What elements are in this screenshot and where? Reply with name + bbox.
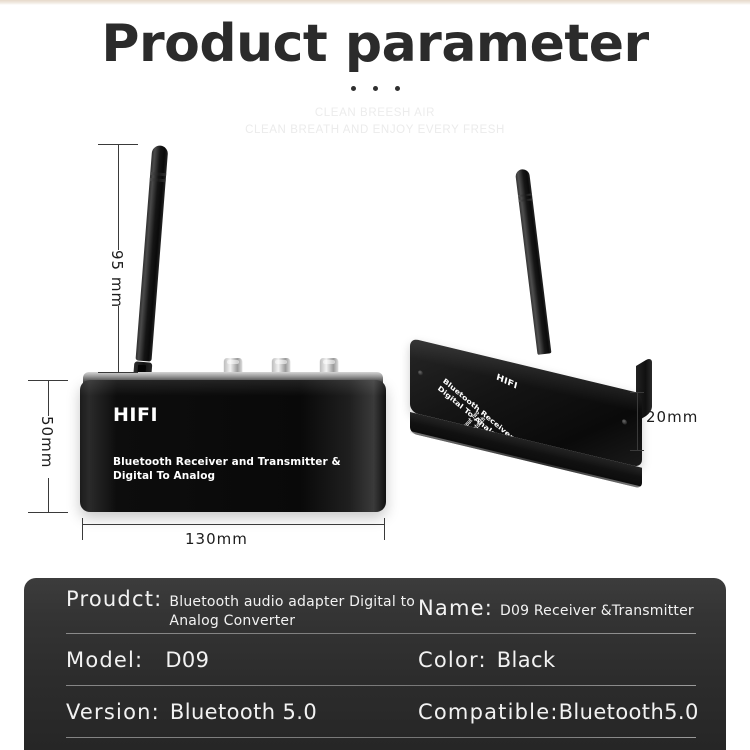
spec-cell-model: Model: D09 <box>66 648 418 672</box>
dimension-tick-right <box>384 518 385 540</box>
spec-cell-product: Proudct: Bluetooth audio adapter Digital… <box>66 587 418 632</box>
dimension-label-antenna-height: 95 mm <box>108 250 126 308</box>
dimension-line-width <box>82 524 384 525</box>
spec-value-compatible: Bluetooth5.0 <box>559 700 699 724</box>
device-description: Bluetooth Receiver and Transmitter & Dig… <box>113 456 341 484</box>
spec-key-product: Proudct: <box>66 587 162 611</box>
spec-value-color: Black <box>497 648 556 672</box>
dimension-label-body-height: 50mm <box>38 416 56 468</box>
dimension-label-thickness: 20mm <box>646 408 698 426</box>
dimension-tick-left <box>82 518 83 540</box>
dimension-line-height <box>48 478 49 512</box>
page-title: Product parameter <box>0 18 750 70</box>
spec-row-model: Model: D09 Color: Black <box>24 634 726 686</box>
device-perspective-view: HIFI Bluetooth Receiver and Transmitter … <box>390 130 750 570</box>
spec-cell-color: Color: Black <box>418 648 726 672</box>
dimension-tick-bottom <box>28 512 68 513</box>
spec-cell-name: Name: D09 Receiver &Transmitter <box>418 596 726 621</box>
mode-switch-button[interactable] <box>532 465 541 468</box>
separator-dot <box>373 86 378 91</box>
separator-dot <box>395 86 400 91</box>
dimension-tick-bottom <box>98 372 138 373</box>
dot-separator <box>0 86 750 91</box>
spec-cell-compatible: Compatible: Bluetooth5.0 <box>418 700 726 724</box>
brand-label-hifi: HIFI <box>113 404 158 426</box>
subtitle-line-1: CLEAN BREESH AIR <box>0 105 750 122</box>
spec-value-model: D09 <box>165 648 209 672</box>
antenna-right <box>513 168 554 359</box>
device-body-perspective: HIFI Bluetooth Receiver and Transmitter … <box>410 338 652 430</box>
spec-key-compatible: Compatible: <box>418 700 559 724</box>
spec-key-version: Version: <box>66 700 160 724</box>
case-screw <box>622 419 627 425</box>
spec-value-name: D09 Receiver &Transmitter <box>500 602 694 621</box>
dimension-line-height <box>48 380 49 416</box>
brand-label-hifi: HIFI <box>495 373 518 392</box>
dimension-line-antenna <box>118 306 119 372</box>
device-description-line-1: Bluetooth Receiver and Transmitter & <box>113 456 341 470</box>
spec-row-product: Proudct: Bluetooth audio adapter Digital… <box>24 578 726 634</box>
spec-key-color: Color: <box>418 648 487 672</box>
dimension-line-antenna <box>118 144 119 250</box>
dimension-tick-bottom <box>630 450 644 451</box>
spec-value-product: Bluetooth audio adapter Digital to Analo… <box>169 593 418 632</box>
dimension-line-thickness <box>637 392 638 450</box>
device-body-front: HIFI Bluetooth Receiver and Transmitter … <box>80 380 386 512</box>
antenna-left <box>133 145 170 368</box>
device-description-line-2: Digital To Analog <box>113 470 341 484</box>
spec-cell-version: Version: Bluetooth 5.0 <box>66 700 418 724</box>
spec-row-version: Version: Bluetooth 5.0 Compatible: Bluet… <box>24 686 726 738</box>
spec-divider <box>66 737 696 738</box>
spec-key-name: Name: <box>418 596 493 620</box>
dimension-label-width: 130mm <box>185 530 248 548</box>
device-front-view: HIFI Bluetooth Receiver and Transmitter … <box>0 130 420 570</box>
case-screw <box>418 370 423 376</box>
separator-dot <box>351 86 356 91</box>
specification-panel: Proudct: Bluetooth audio adapter Digital… <box>24 578 726 750</box>
spec-key-model: Model: <box>66 648 143 672</box>
dimension-tick-top <box>630 392 644 393</box>
spec-value-version: Bluetooth 5.0 <box>170 700 317 724</box>
header: Product parameter CLEAN BREESH AIR CLEAN… <box>0 18 750 138</box>
top-accent-strip <box>0 0 750 5</box>
product-stage: HIFI Bluetooth Receiver and Transmitter … <box>0 130 750 570</box>
